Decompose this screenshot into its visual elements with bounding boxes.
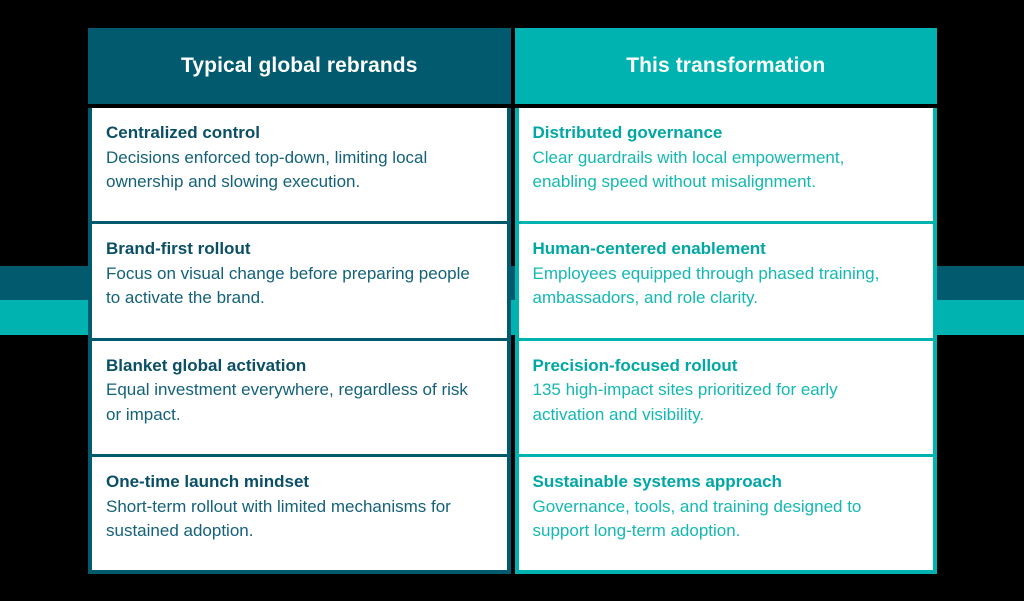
cell-title: One-time launch mindset: [106, 471, 491, 494]
cell-description: Employees equipped through phased traini…: [533, 262, 913, 310]
cell-title: Sustainable systems approach: [533, 471, 918, 494]
comparison-table: Typical global rebrands This transformat…: [88, 28, 937, 574]
cell-title: Brand-first rollout: [106, 238, 491, 261]
cell-title: Blanket global activation: [106, 355, 491, 378]
cell-description: Decisions enforced top-down, limiting lo…: [106, 146, 486, 194]
cell-title: Precision-focused rollout: [533, 355, 918, 378]
table-body: Centralized control Decisions enforced t…: [88, 104, 937, 574]
table-row: One-time launch mindset Short-term rollo…: [88, 457, 511, 574]
column-header-typical-global-rebrands: Typical global rebrands: [88, 28, 511, 104]
cell-description: Focus on visual change before preparing …: [106, 262, 486, 310]
table-row: Blanket global activation Equal investme…: [88, 341, 511, 457]
cell-description: Governance, tools, and training designed…: [533, 495, 913, 543]
cell-description: Equal investment everywhere, regardless …: [106, 378, 486, 426]
cell-title: Human-centered enablement: [533, 238, 918, 261]
table-row: Precision-focused rollout 135 high-impac…: [515, 341, 938, 457]
table-row: Brand-first rollout Focus on visual chan…: [88, 224, 511, 340]
table-row: Distributed governance Clear guardrails …: [515, 108, 938, 224]
cell-description: Short-term rollout with limited mechanis…: [106, 495, 486, 543]
cell-title: Distributed governance: [533, 122, 918, 145]
column-this-transformation: Distributed governance Clear guardrails …: [515, 108, 938, 574]
cell-title: Centralized control: [106, 122, 491, 145]
table-row: Human-centered enablement Employees equi…: [515, 224, 938, 340]
cell-description: 135 high-impact sites prioritized for ea…: [533, 378, 913, 426]
column-typical-global-rebrands: Centralized control Decisions enforced t…: [88, 108, 511, 574]
table-row: Sustainable systems approach Governance,…: [515, 457, 938, 574]
table-header-row: Typical global rebrands This transformat…: [88, 28, 937, 104]
table-row: Centralized control Decisions enforced t…: [88, 108, 511, 224]
cell-description: Clear guardrails with local empowerment,…: [533, 146, 913, 194]
column-header-this-transformation: This transformation: [515, 28, 938, 104]
